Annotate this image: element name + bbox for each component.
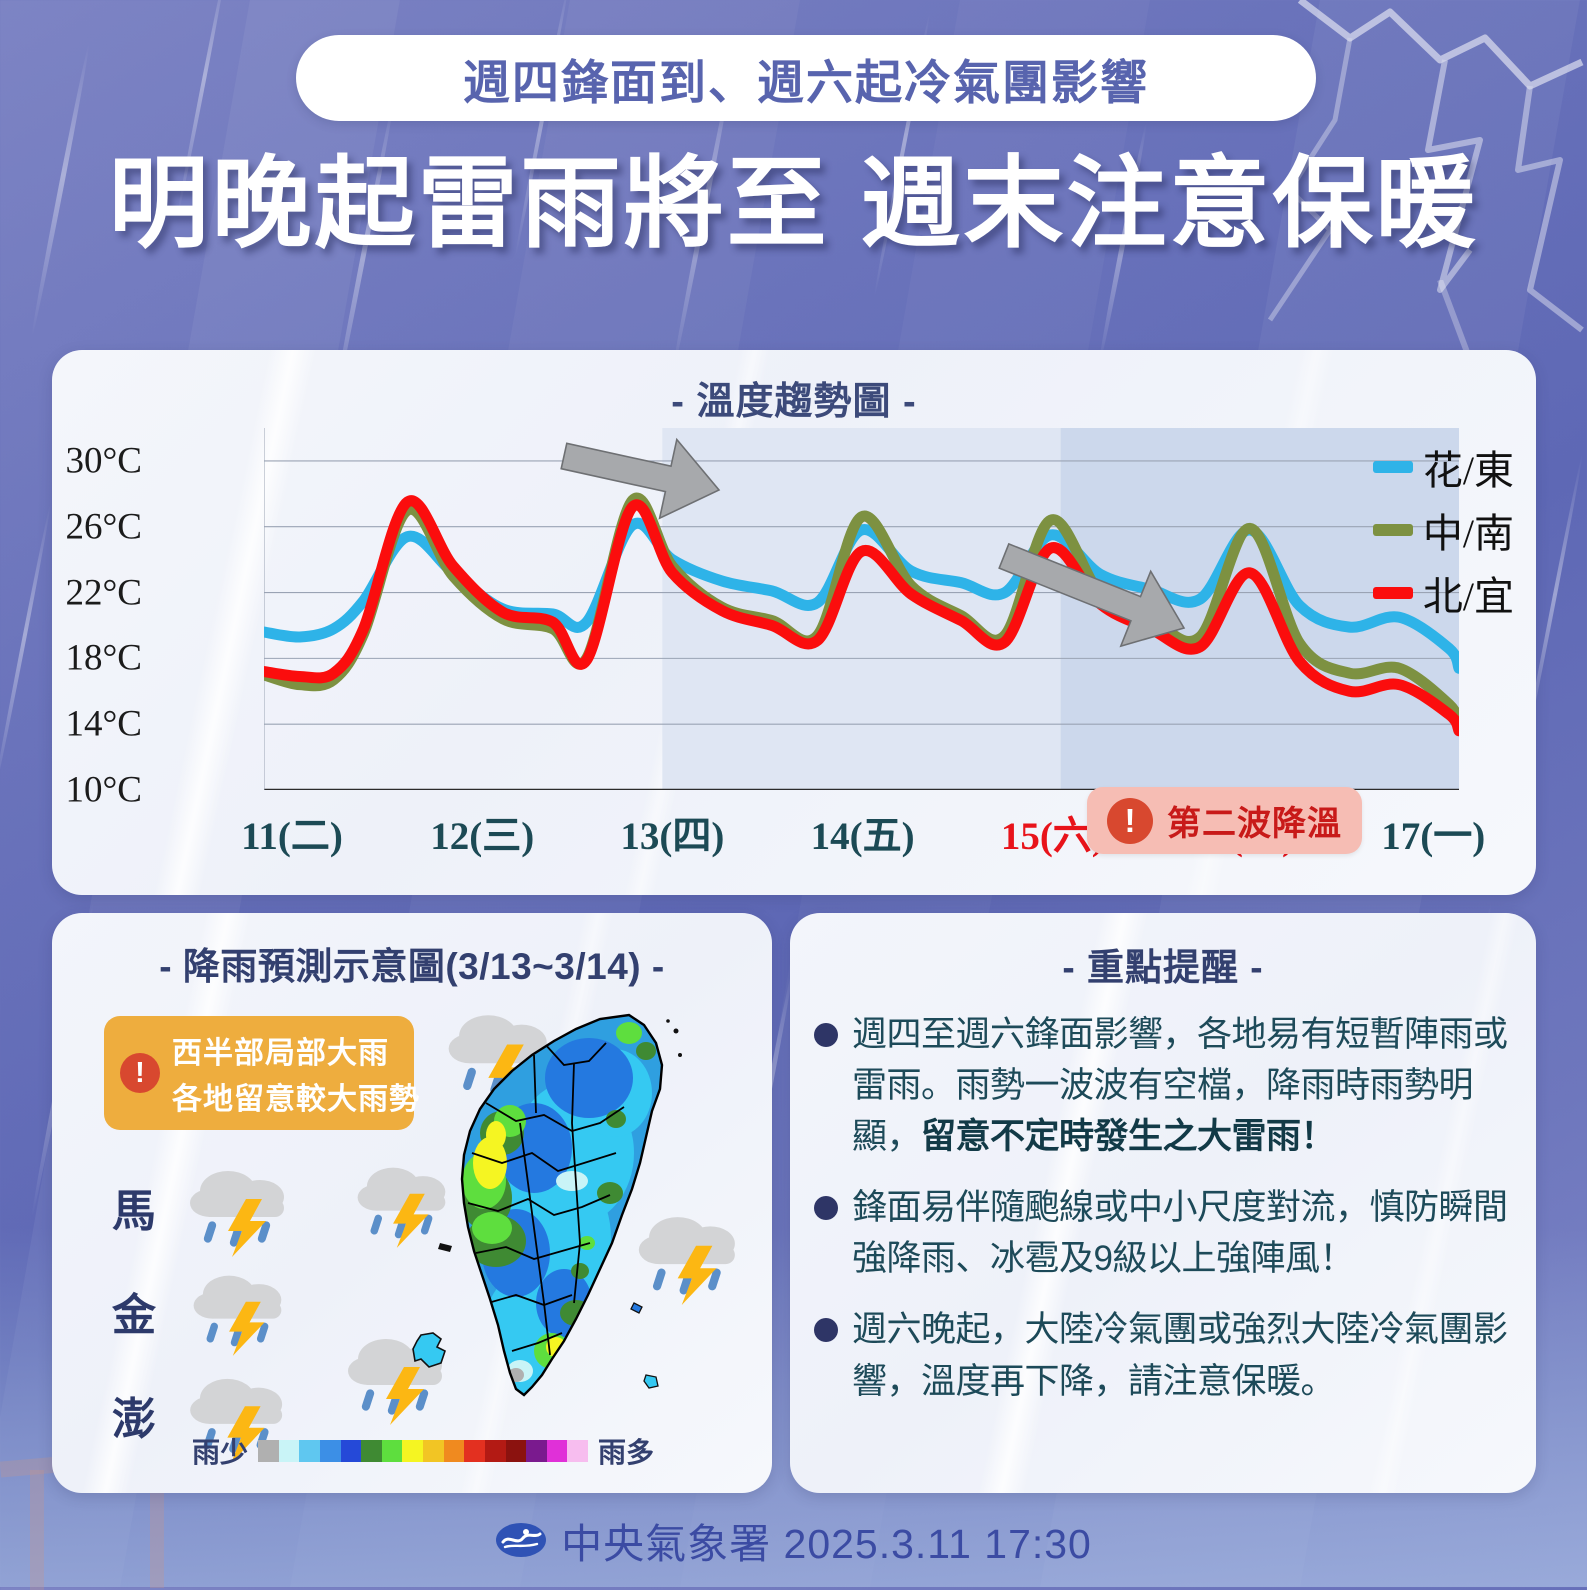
second-cooling-badge: ! 第二波降溫 <box>1087 787 1362 854</box>
tip-item-3: 週六晚起，大陸冷氣團或強烈大陸冷氣團影響，溫度再下降，請注意保暖。 <box>814 1304 1520 1406</box>
tip-text: 鋒面易伴隨颮線或中小尺度對流，慎防瞬間強降雨、冰雹及9級以上強陣風！ <box>852 1182 1520 1284</box>
exclamation-icon: ! <box>120 1053 160 1093</box>
y-tick-label: 26°C <box>52 505 142 548</box>
scale-color-step <box>567 1440 588 1462</box>
legend-swatch <box>1373 587 1413 599</box>
scale-low-label: 雨少 <box>192 1431 248 1471</box>
y-tick-label: 10°C <box>52 769 142 812</box>
tips-list: 週四至週六鋒面影響，各地易有短暫陣雨或雷雨。雨勢一波波有空檔，降雨時雨勢明顯，留… <box>814 1009 1520 1427</box>
rainfall-color-scale: 雨少 雨多 <box>192 1431 654 1471</box>
legend-item-2: 中/南 <box>1373 501 1514 559</box>
x-tick-label: 13(四) <box>620 805 724 861</box>
chart-plot-area <box>264 428 1459 790</box>
scale-color-step <box>299 1440 320 1462</box>
thunderstorm-icon <box>184 1165 304 1257</box>
exclamation-icon: ! <box>1107 798 1153 844</box>
cwa-logo-icon <box>495 1520 547 1560</box>
legend-label: 中/南 <box>1423 501 1514 559</box>
scale-color-step <box>382 1440 403 1462</box>
warning-line-2: 各地留意較大雨勢 <box>172 1074 420 1118</box>
warning-line-1: 西半部局部大雨 <box>172 1028 420 1072</box>
scale-color-step <box>464 1440 485 1462</box>
scale-color-step <box>361 1440 382 1462</box>
tip-item-1: 週四至週六鋒面影響，各地易有短暫陣雨或雷雨。雨勢一波波有空檔，降雨時雨勢明顯，留… <box>814 1009 1520 1162</box>
scale-color-step <box>444 1440 465 1462</box>
scale-color-step <box>423 1440 444 1462</box>
subtitle-pill: 週四鋒面到、週六起冷氣團影響 <box>296 35 1316 121</box>
x-tick-label: 11(二) <box>241 805 343 861</box>
island-label-kinmen: 金 <box>112 1279 156 1343</box>
scale-color-step <box>526 1440 547 1462</box>
island-label-penghu: 澎 <box>112 1383 156 1447</box>
scale-high-label: 雨多 <box>598 1431 654 1471</box>
legend-item-1: 花/東 <box>1373 438 1514 496</box>
y-tick-label: 30°C <box>52 439 142 482</box>
rain-card-title: - 降雨預測示意圖(3/13~3/14) - <box>52 936 772 990</box>
scale-color-step <box>320 1440 341 1462</box>
bullet-dot-icon <box>814 1318 838 1342</box>
scale-gradient-bar <box>258 1440 588 1462</box>
y-tick-label: 14°C <box>52 703 142 746</box>
heavy-rain-warning-badge: ! 西半部局部大雨 各地留意較大雨勢 <box>104 1016 414 1130</box>
x-tick-label: 14(五) <box>811 805 915 861</box>
page-title: 明晚起雷雨將至 週末注意保暖 <box>0 148 1587 260</box>
legend-item-3: 北/宜 <box>1373 564 1514 622</box>
x-tick-label: 17(一) <box>1381 805 1485 861</box>
y-tick-label: 22°C <box>52 571 142 614</box>
footer-text: 中央氣象署 2025.3.11 17:30 <box>561 1510 1092 1570</box>
scale-color-step <box>341 1440 362 1462</box>
scale-color-step <box>506 1440 527 1462</box>
chart-legend: 花/東中/南北/宜 <box>1373 438 1514 627</box>
legend-swatch <box>1373 461 1413 473</box>
scale-color-step <box>547 1440 568 1462</box>
legend-label: 花/東 <box>1423 438 1514 496</box>
tip-emphasis: 留意不定時發生之大雷雨！ <box>921 1117 1335 1156</box>
key-reminders-card: - 重點提醒 - 週四至週六鋒面影響，各地易有短暫陣雨或雷雨。雨勢一波波有空檔，… <box>790 913 1536 1493</box>
scale-color-step <box>485 1440 506 1462</box>
island-label-matsu: 馬 <box>112 1175 156 1239</box>
tips-card-title: - 重點提醒 - <box>790 937 1536 991</box>
subtitle-text: 週四鋒面到、週六起冷氣團影響 <box>463 44 1149 113</box>
bullet-dot-icon <box>814 1196 838 1220</box>
scale-color-step <box>279 1440 300 1462</box>
legend-label: 北/宜 <box>1423 564 1514 622</box>
bullet-dot-icon <box>814 1023 838 1047</box>
footer: 中央氣象署 2025.3.11 17:30 <box>0 1510 1587 1570</box>
second-cooling-label: 第二波降溫 <box>1167 796 1342 845</box>
penghu-island-shape <box>407 1331 457 1375</box>
scale-color-step <box>402 1440 423 1462</box>
chart-title: - 溫度趨勢圖 - <box>52 370 1536 425</box>
rain-forecast-card: - 降雨預測示意圖(3/13~3/14) - ! 西半部局部大雨 各地留意較大雨… <box>52 913 772 1493</box>
tip-item-2: 鋒面易伴隨颮線或中小尺度對流，慎防瞬間強降雨、冰雹及9級以上強陣風！ <box>814 1182 1520 1284</box>
legend-swatch <box>1373 524 1413 536</box>
taiwan-rainfall-map <box>424 1003 714 1433</box>
tip-text: 週四至週六鋒面影響，各地易有短暫陣雨或雷雨。雨勢一波波有空檔，降雨時雨勢明顯，留… <box>852 1009 1520 1162</box>
temperature-chart-card: - 溫度趨勢圖 - 30°C26°C22°C18°C14°C10°C 11(二)… <box>52 350 1536 895</box>
tip-text: 週六晚起，大陸冷氣團或強烈大陸冷氣團影響，溫度再下降，請注意保暖。 <box>852 1304 1520 1406</box>
chart-svg <box>264 428 1459 790</box>
y-tick-label: 18°C <box>52 637 142 680</box>
thunderstorm-icon <box>188 1269 300 1357</box>
scale-color-step <box>258 1440 279 1462</box>
x-tick-label: 12(三) <box>430 805 534 861</box>
